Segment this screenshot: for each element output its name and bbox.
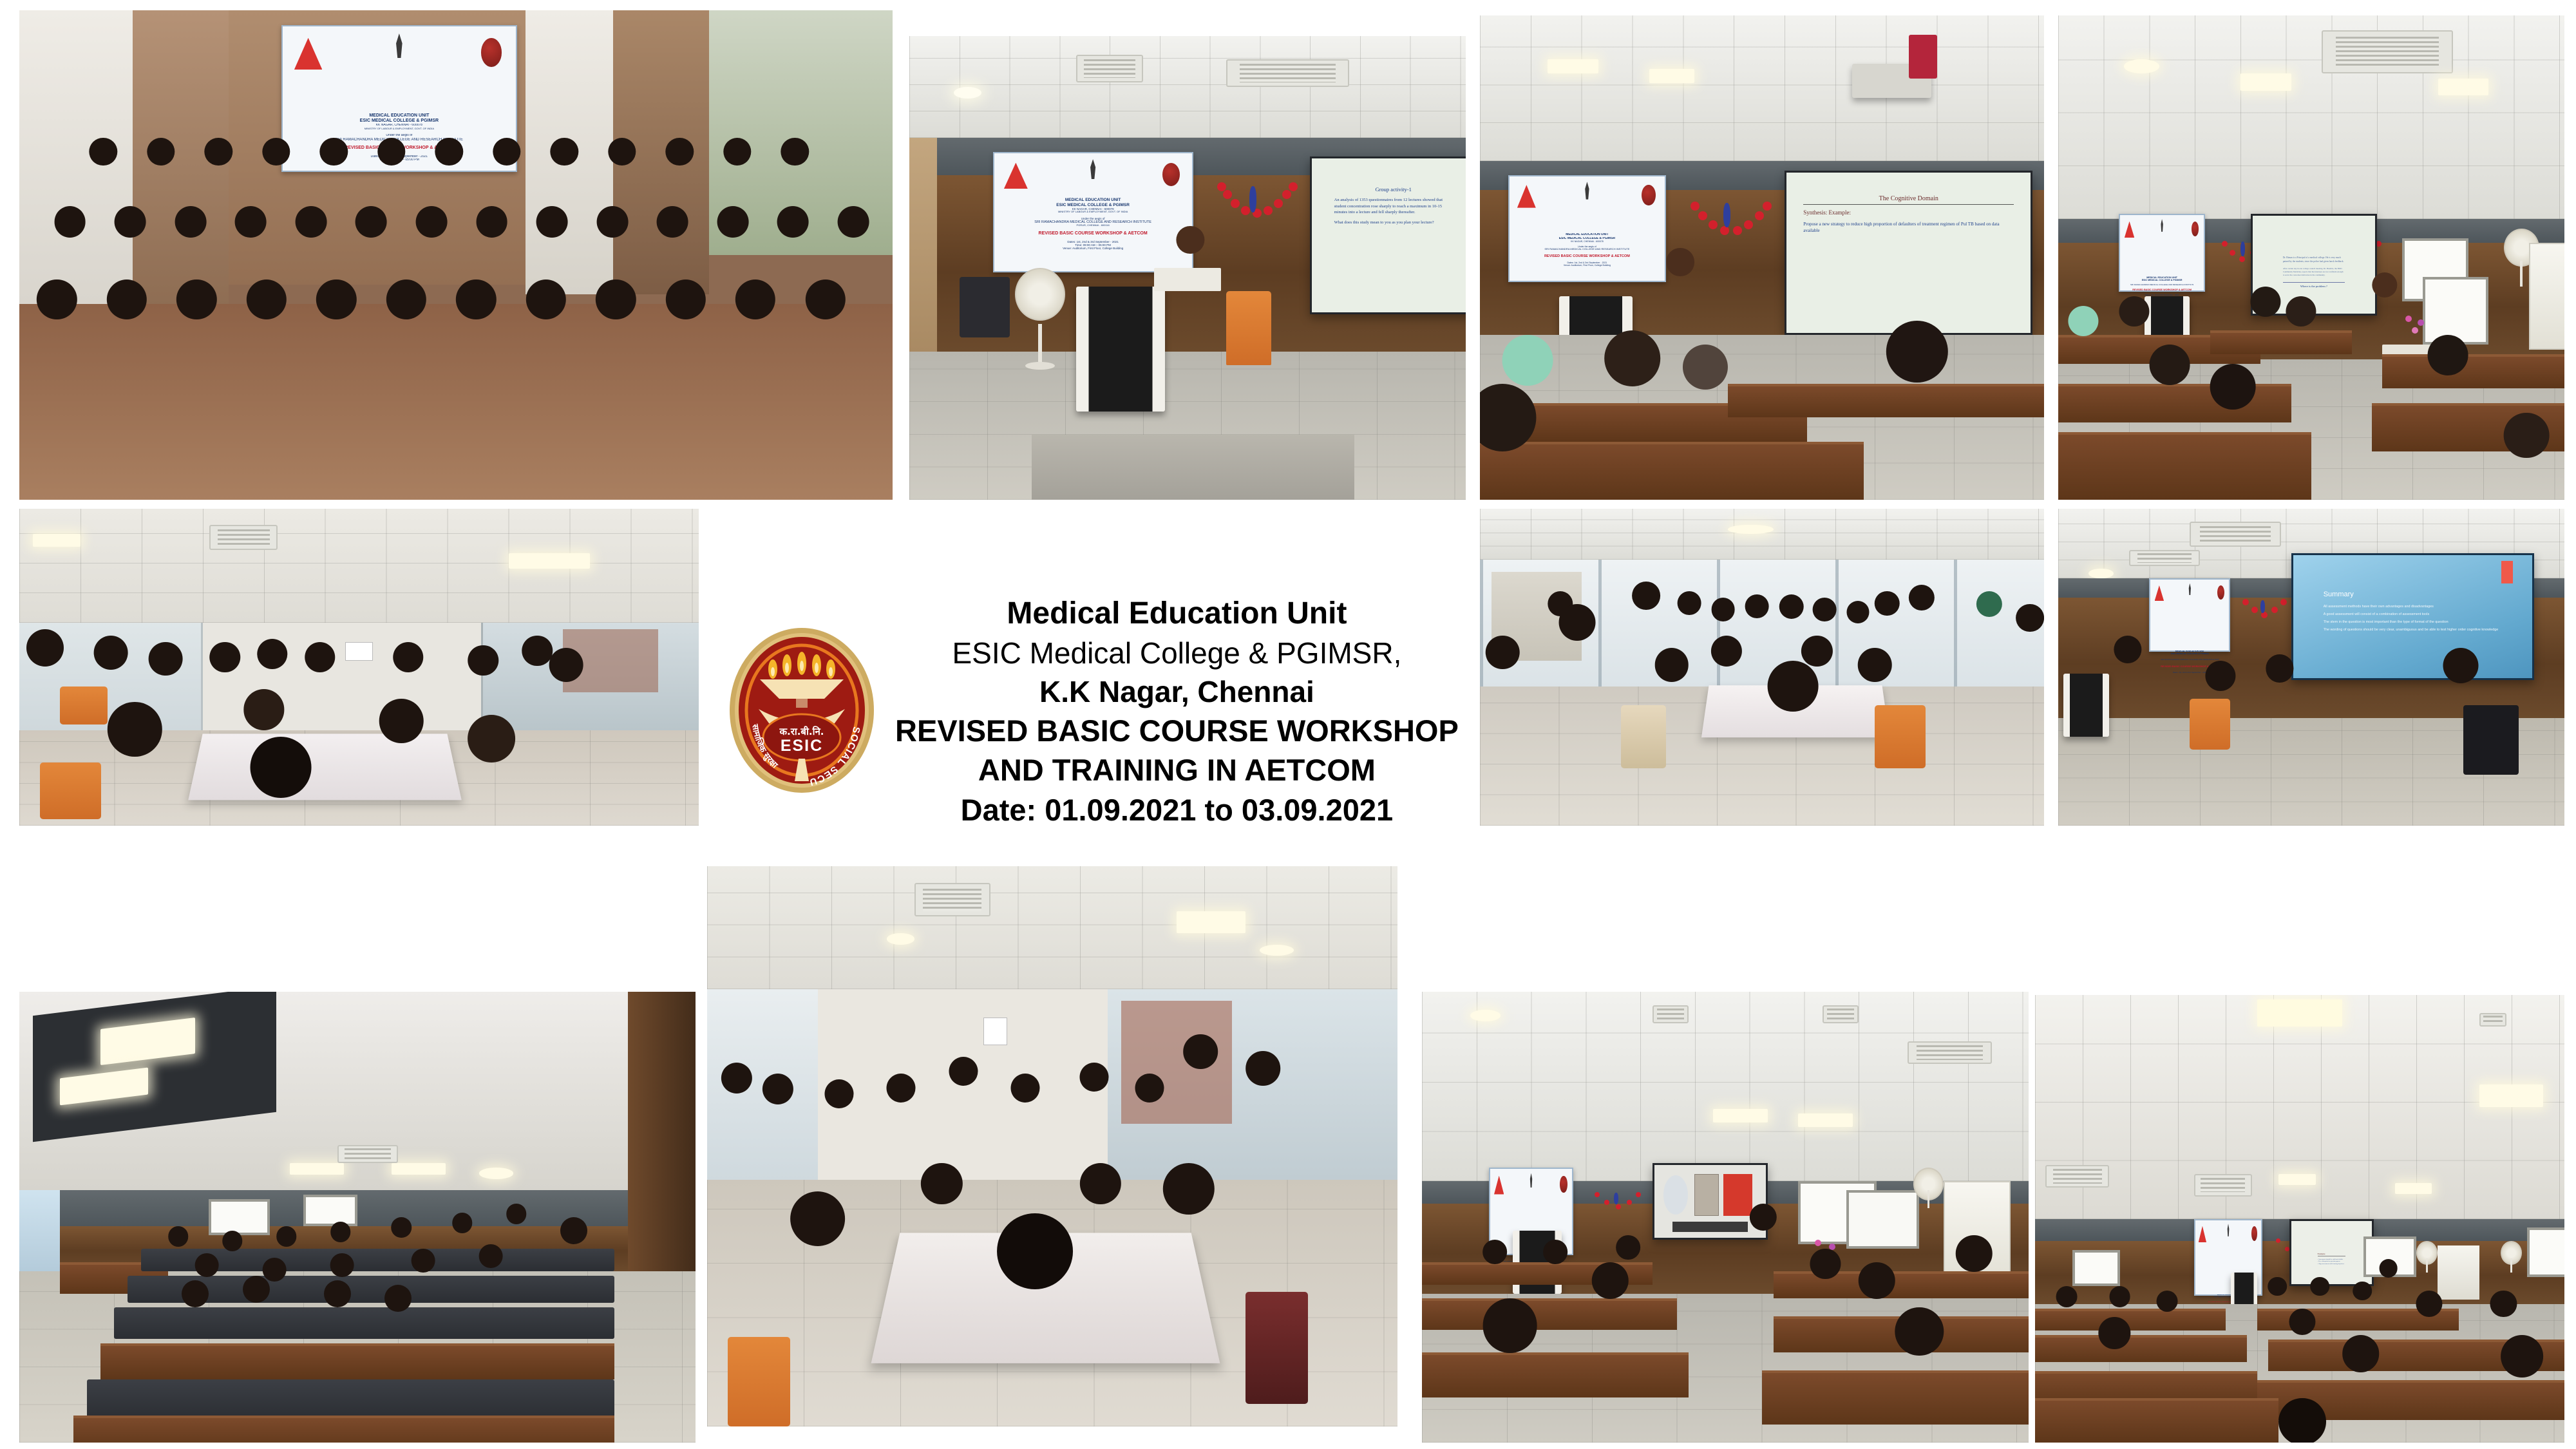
banner-org-line1: MEDICAL EDUCATION UNIT [1005, 198, 1181, 202]
banner-partner-line1: SRI RAMACHANDRA MEDICAL COLLEGE AND RESE… [1520, 248, 1653, 251]
title-line-3: K.K Nagar, Chennai [895, 673, 1459, 712]
photo-group-work-table [707, 866, 1397, 1426]
slide-paragraph-2: After certain day in one college council… [2283, 267, 2345, 276]
mci-triangle-icon [2155, 585, 2164, 601]
slide-body: An analysis of 1353 questionnaires from … [1334, 197, 1453, 215]
institute-emblem-icon [1642, 185, 1656, 205]
svg-text:ESIC: ESIC [781, 737, 823, 755]
slide-bullet: The wording of questions should be very … [2324, 627, 2502, 632]
lectern [1076, 287, 1165, 412]
banner-org-line2: ESIC MEDICAL COLLEGE & PGIMSR [308, 118, 489, 124]
slide-title: The Cognitive Domain [1803, 195, 2014, 205]
title-line-4: REVISED BASIC COURSE WORKSHOP [895, 711, 1459, 750]
banner-org-line2: ESIC MEDICAL COLLEGE & PGIMSR [1005, 203, 1181, 207]
session-event-banner: MEDICAL EDUCATION UNIT ESIC MEDICAL COLL… [2149, 578, 2230, 652]
institute-emblem-icon [2192, 222, 2199, 236]
title-line-1: Medical Education Unit [895, 594, 1459, 634]
slide-title: Group activity-1 [1334, 186, 1453, 193]
title-line-2: ESIC Medical College & PGIMSR, [895, 634, 1459, 673]
podium-event-banner: MEDICAL EDUCATION UNIT ESIC MEDICAL COLL… [993, 152, 1193, 272]
banner-course-title: REVISED BASIC COURSE WORKSHOP & AETCOM [1005, 231, 1181, 236]
institute-emblem-icon [2251, 1226, 2257, 1241]
projection-screen [1653, 1163, 1768, 1240]
title-line-6: Date: 01.09.2021 to 03.09.2021 [895, 790, 1459, 829]
photo-aetcom-lecture-hall: MEDICAL EDUCATION UNIT ESIC MEDICAL COLL… [2058, 15, 2564, 500]
slide-bullet: All assessment methods have their own ad… [2324, 604, 2502, 609]
banner-org-line4: MINISTRY OF LABOUR & EMPLOYMENT, GOVT. O… [308, 128, 489, 131]
photo-inauguration-podium: MEDICAL EDUCATION UNIT ESIC MEDICAL COLL… [909, 36, 1466, 500]
projection-screen: Summary All assessment methods have thei… [2291, 553, 2534, 680]
slide-paragraph: Dr. Biman is a Principal of a medical co… [2283, 256, 2345, 263]
mci-triangle-icon [1494, 1176, 1504, 1195]
institute-emblem-icon [1162, 163, 1180, 187]
slide-question: What does this study mean to you as you … [1334, 220, 1453, 225]
photo-auditorium-participants [19, 992, 696, 1443]
ashoka-emblem-icon [2159, 219, 2164, 232]
banner-partner-line1: SRI RAMACHANDRA MEDICAL COLLEGE AND RESE… [2161, 659, 2219, 661]
session-event-banner: MEDICAL EDUCATION UNIT ESIC MEDICAL COLL… [1508, 175, 1666, 281]
banner-course-title: REVISED BASIC COURSE WORKSHOP & AETCOM [1520, 254, 1653, 258]
photo-cognitive-domain-session: MEDICAL EDUCATION UNIT ESIC MEDICAL COLL… [1480, 15, 2044, 500]
mci-triangle-icon [2199, 1226, 2206, 1242]
slide-bullet: A good assessment will consist of a comb… [2324, 612, 2502, 617]
ashoka-emblem-icon [1087, 159, 1099, 179]
photo-group-photo: MEDICAL EDUCATION UNIT ESIC MEDICAL COLL… [19, 10, 893, 500]
institute-emblem-icon [1560, 1176, 1567, 1193]
slide-title: Summary [2324, 591, 2502, 598]
mci-triangle-icon [1004, 163, 1028, 189]
photo-collage-poster: MEDICAL EDUCATION UNIT ESIC MEDICAL COLL… [0, 0, 2576, 1449]
ashoka-emblem-icon [392, 33, 406, 58]
svg-text:क.रा.बी.नि.: क.रा.बी.नि. [779, 726, 824, 737]
institute-emblem-icon [481, 38, 502, 67]
banner-venue: Venue: Auditorium, First Floor, College … [1005, 247, 1181, 250]
projection-screen: The Cognitive Domain Synthesis: Example:… [1785, 171, 2032, 336]
slide-bullet: The stem in the question is most importa… [2324, 620, 2502, 625]
banner-partner-line2: PORUR, CHENNAI - 600116 [1005, 224, 1181, 227]
slide-title: Examples [2318, 1253, 2345, 1256]
banner-partner-line1: SRI RAMACHANDRA MEDICAL COLLEGE AND RESE… [2130, 284, 2193, 286]
ashoka-emblem-icon [2188, 583, 2192, 596]
banner-org-line1: MEDICAL EDUCATION UNIT [308, 113, 489, 118]
mci-triangle-icon [294, 38, 322, 70]
ashoka-emblem-icon [1582, 182, 1591, 199]
banner-org-line2: ESIC MEDICAL COLLEGE & PGIMSR [2130, 279, 2193, 281]
ashoka-emblem-icon [1529, 1173, 1534, 1188]
photo-microteaching-session: MEDICAL EDUCATION UNIT ESIC MEDICAL COLL… [1422, 992, 2029, 1443]
banner-org-line3: KK NAGAR, CHENNAI - 600078 [1520, 240, 1653, 243]
banner-org-line2: ESIC MEDICAL COLLEGE & PGIMSR [2161, 653, 2219, 656]
slide-question: Where is the problem ? [2283, 282, 2345, 288]
photo-small-group-activity-2 [1480, 509, 2044, 826]
title-lines: Medical Education Unit ESIC Medical Coll… [895, 594, 1459, 829]
slide-bullets: • Assessment should be valid and reliabl… [2318, 1258, 2345, 1265]
photo-summary-session: MEDICAL EDUCATION UNIT ESIC MEDICAL COLL… [2058, 509, 2564, 826]
photo-assessment-session: MEDICAL EDUCATION UNIT ESIC MEDICAL COLL… [2035, 995, 2564, 1443]
projection-screen: Examples • Assessment should be valid an… [2289, 1219, 2374, 1287]
slide-bullet: Propose a new strategy to reduce high pr… [1803, 221, 2014, 234]
banner-course-title: REVISED BASIC COURSE WORKSHOP & AETCOM [2130, 289, 2193, 291]
slide-subtitle: Synthesis: Example: [1803, 209, 2014, 216]
banner-org-line4: MINISTRY OF LABOUR & EMPLOYMENT, GOVT. O… [1005, 211, 1181, 214]
mci-triangle-icon [1517, 185, 1536, 208]
mci-triangle-icon [2125, 222, 2135, 238]
esic-logo: क.रा.बी.नि. ESIC SOCIAL SECURITY सामाजिक… [728, 627, 876, 797]
title-line-5: AND TRAINING IN AETCOM [895, 750, 1459, 790]
banner-venue: Venue: Auditorium, First Floor, College … [1520, 264, 1653, 267]
poster-title-block: क.रा.बी.नि. ESIC SOCIAL SECURITY सामाजिक… [728, 567, 1475, 857]
projection-screen: Group activity-1 An analysis of 1353 que… [1310, 156, 1466, 314]
session-event-banner: MEDICAL EDUCATION UNIT ESIC MEDICAL COLL… [2119, 214, 2205, 291]
photo-small-group-activity-1 [19, 509, 699, 826]
institute-emblem-icon [2217, 585, 2224, 600]
ashoka-emblem-icon [2226, 1224, 2230, 1236]
